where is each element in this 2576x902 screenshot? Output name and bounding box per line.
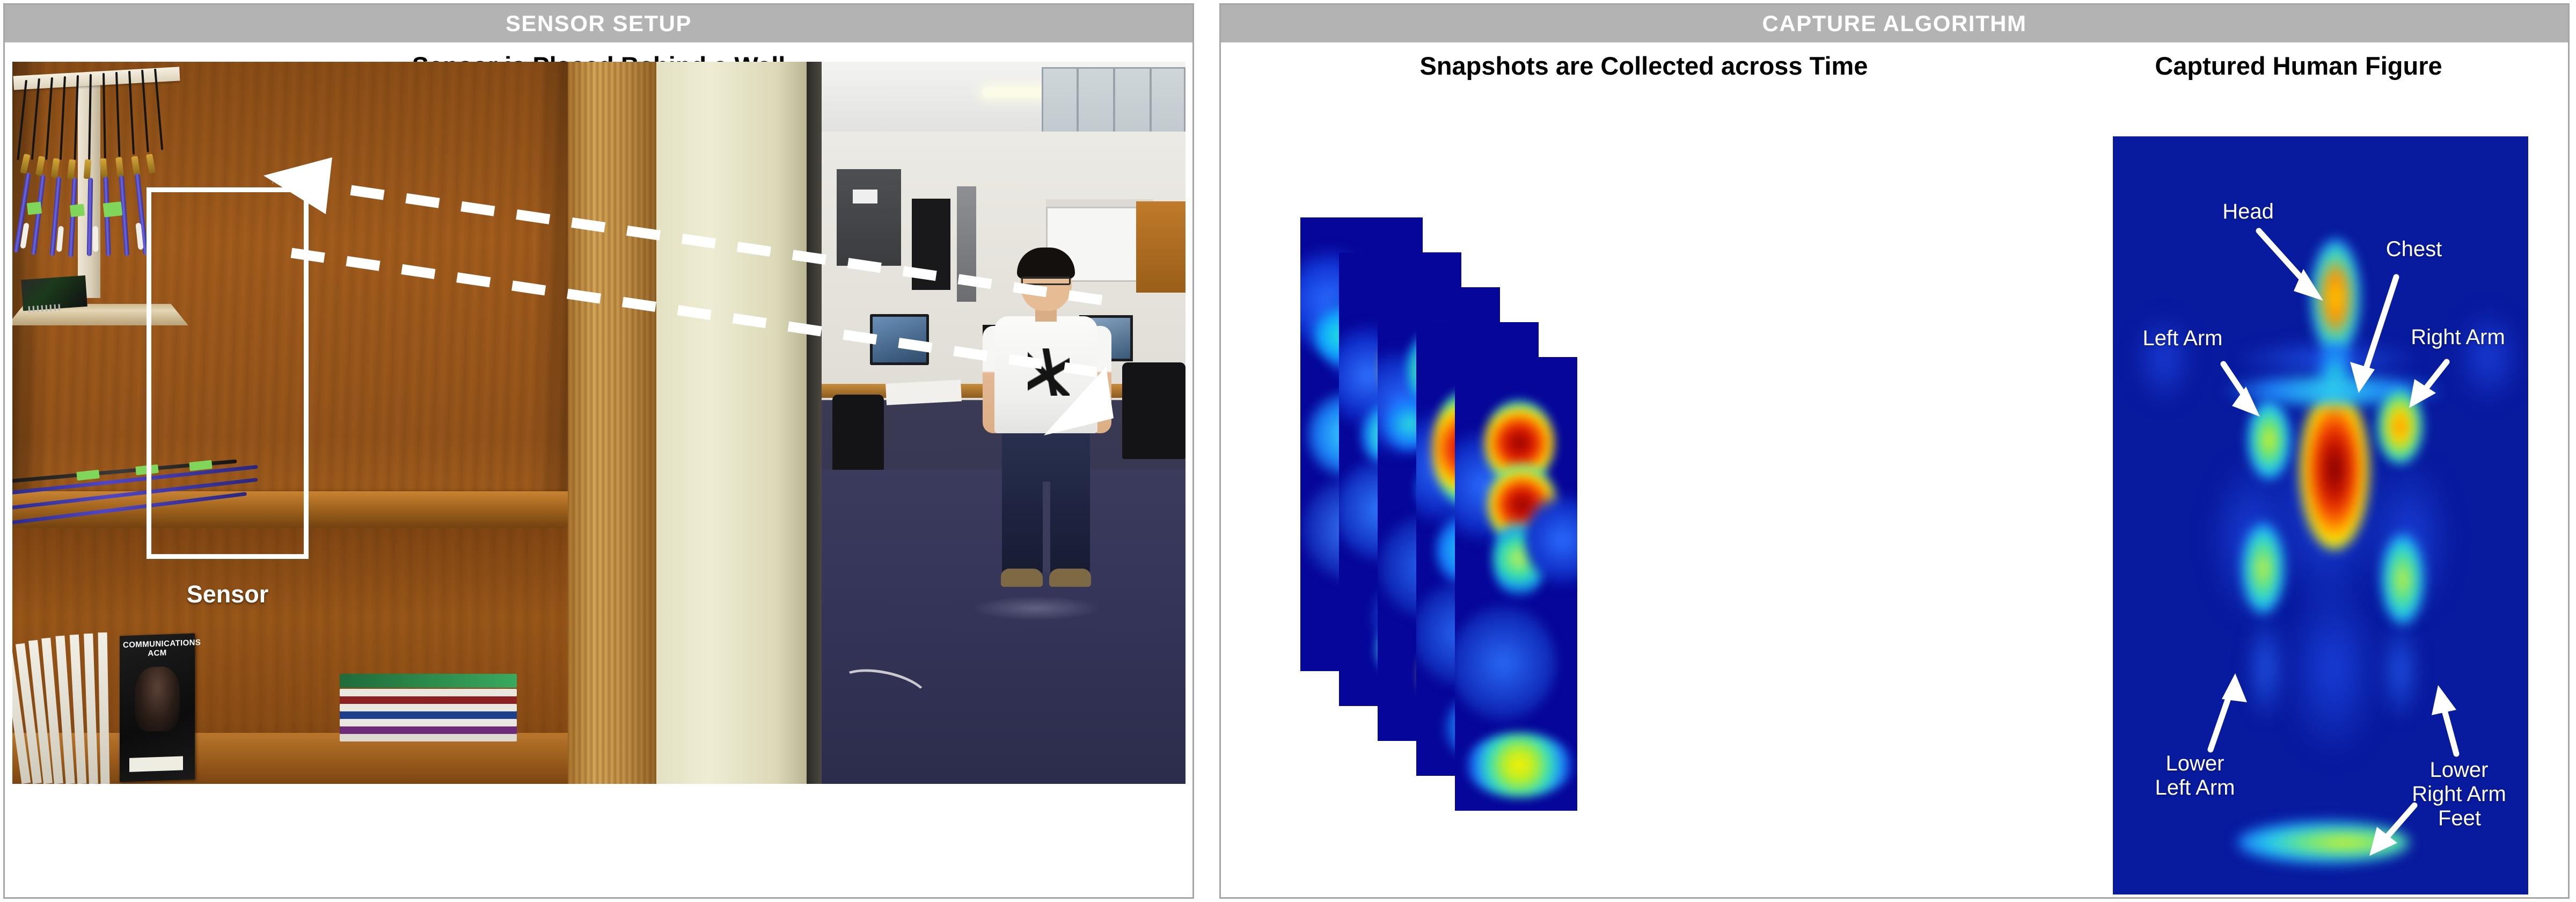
wall-shadow-edge [807, 62, 822, 784]
sensor-setup-photo: COMMUNICATIONSACM [12, 62, 1185, 784]
magazine-cover: COMMUNICATIONSACM [120, 634, 195, 782]
wooden-door-post [568, 62, 656, 784]
notebook-stack [340, 674, 517, 754]
wall-column [656, 62, 807, 784]
label-left-arm: Left Arm [2118, 326, 2247, 351]
office-scene [822, 62, 1185, 784]
lower-right-arm-arrow-icon [2432, 685, 2456, 754]
capture-algorithm-header-label: CAPTURE ALGORITHM [1762, 11, 2027, 37]
magazine-subtitle: ACM [148, 648, 166, 658]
figure-stage: SENSOR SETUP Sensor is Placed Behind a W… [0, 0, 2576, 902]
sensor-highlight-box [147, 187, 309, 559]
label-lower-left-arm: Lower Left Arm [2128, 752, 2262, 800]
lower-left-arm-arrow-icon [2211, 673, 2247, 750]
snapshots-section-title: Snapshots are Collected across Time [1257, 51, 2030, 81]
captured-figure-section-title: Captured Human Figure [2073, 51, 2524, 81]
left-arm-arrow-icon [2223, 364, 2260, 417]
capture-algorithm-header: CAPTURE ALGORITHM [1221, 5, 2568, 42]
person-standing [983, 251, 1111, 605]
label-chest: Chest [2347, 237, 2481, 261]
head-arrow-icon [2259, 231, 2323, 301]
label-lower-right-arm: Lower Right Arm [2390, 758, 2528, 806]
sensor-setup-header: SENSOR SETUP [5, 5, 1192, 42]
right-arm-arrow-icon [2409, 362, 2447, 408]
control-board [21, 275, 87, 311]
sensor-setup-panel: SENSOR SETUP Sensor is Placed Behind a W… [3, 3, 1194, 899]
captured-human-figure-heatmap: Head Chest Left Arm Right Arm Lower Left… [2113, 136, 2528, 894]
label-head: Head [2178, 200, 2318, 224]
sensor-photo-label: Sensor [147, 580, 309, 608]
label-right-arm: Right Arm [2385, 325, 2528, 350]
label-feet: Feet [2406, 806, 2513, 831]
snapshot-tile-5 [1455, 357, 1577, 811]
sensor-setup-header-label: SENSOR SETUP [506, 11, 692, 37]
